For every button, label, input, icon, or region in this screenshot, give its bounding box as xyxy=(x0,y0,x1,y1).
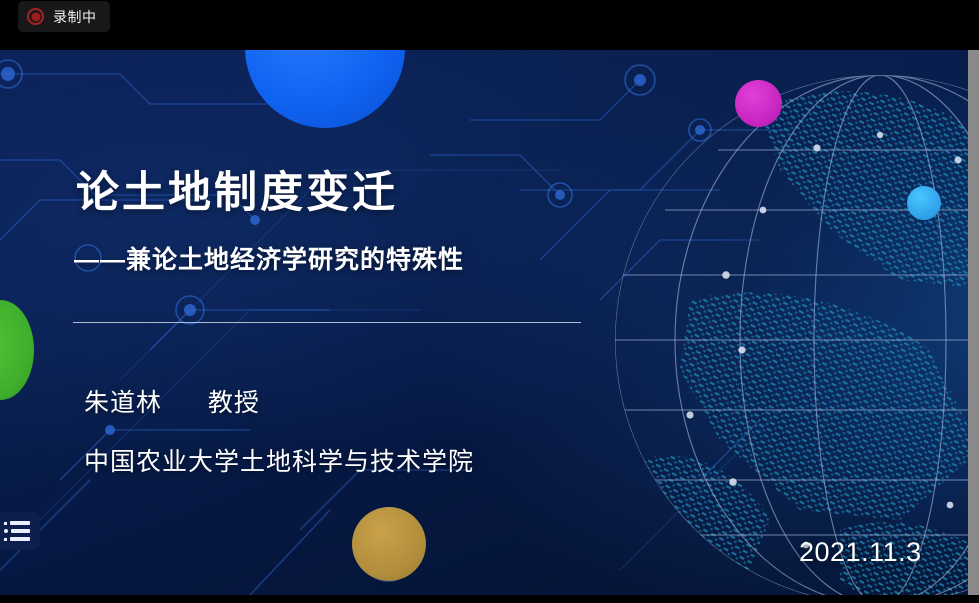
slide-title: 论土地制度变迁 xyxy=(76,172,398,215)
title-divider xyxy=(73,322,581,323)
menu-icon-row xyxy=(4,521,30,525)
right-edge-strip xyxy=(968,50,979,595)
decorative-circle-blue xyxy=(245,50,405,128)
slide-menu-button[interactable] xyxy=(0,512,40,550)
list-menu-icon xyxy=(4,521,30,541)
menu-icon-bullet xyxy=(4,522,7,525)
presenter-affiliation: 中国农业大学土地科学与技术学院 xyxy=(84,450,474,475)
presentation-slide[interactable]: 论土地制度变迁 ——兼论土地经济学研究的特殊性 朱道林 教授 中国农业大学土地科… xyxy=(0,50,968,595)
recording-status-badge[interactable]: 录制中 xyxy=(18,1,110,32)
record-dot-icon xyxy=(27,8,44,25)
menu-icon-bullet xyxy=(4,538,7,541)
recording-status-label: 录制中 xyxy=(53,10,97,24)
decorative-circle-gold xyxy=(352,507,426,581)
presenter-line: 朱道林 教授 xyxy=(84,391,260,416)
screen-recording-view: 论土地制度变迁 ——兼论土地经济学研究的特殊性 朱道林 教授 中国农业大学土地科… xyxy=(0,0,979,603)
recording-top-bar: 录制中 xyxy=(0,0,979,50)
menu-icon-row xyxy=(4,537,30,541)
menu-icon-bullet xyxy=(4,529,8,533)
slide-date: 2021.11.3 xyxy=(799,539,922,566)
menu-icon-bar xyxy=(10,521,30,525)
presenter-name: 朱道林 xyxy=(84,389,162,417)
decorative-circle-green xyxy=(0,300,34,400)
bottom-edge-strip xyxy=(0,595,979,603)
menu-icon-bar xyxy=(11,529,30,533)
decorative-circle-magenta xyxy=(735,80,782,127)
presenter-title: 教授 xyxy=(208,389,260,417)
menu-icon-row xyxy=(4,529,30,533)
decorative-circle-cyan xyxy=(907,186,941,220)
slide-subtitle: ——兼论土地经济学研究的特殊性 xyxy=(74,248,464,273)
menu-icon-bar xyxy=(10,537,30,541)
